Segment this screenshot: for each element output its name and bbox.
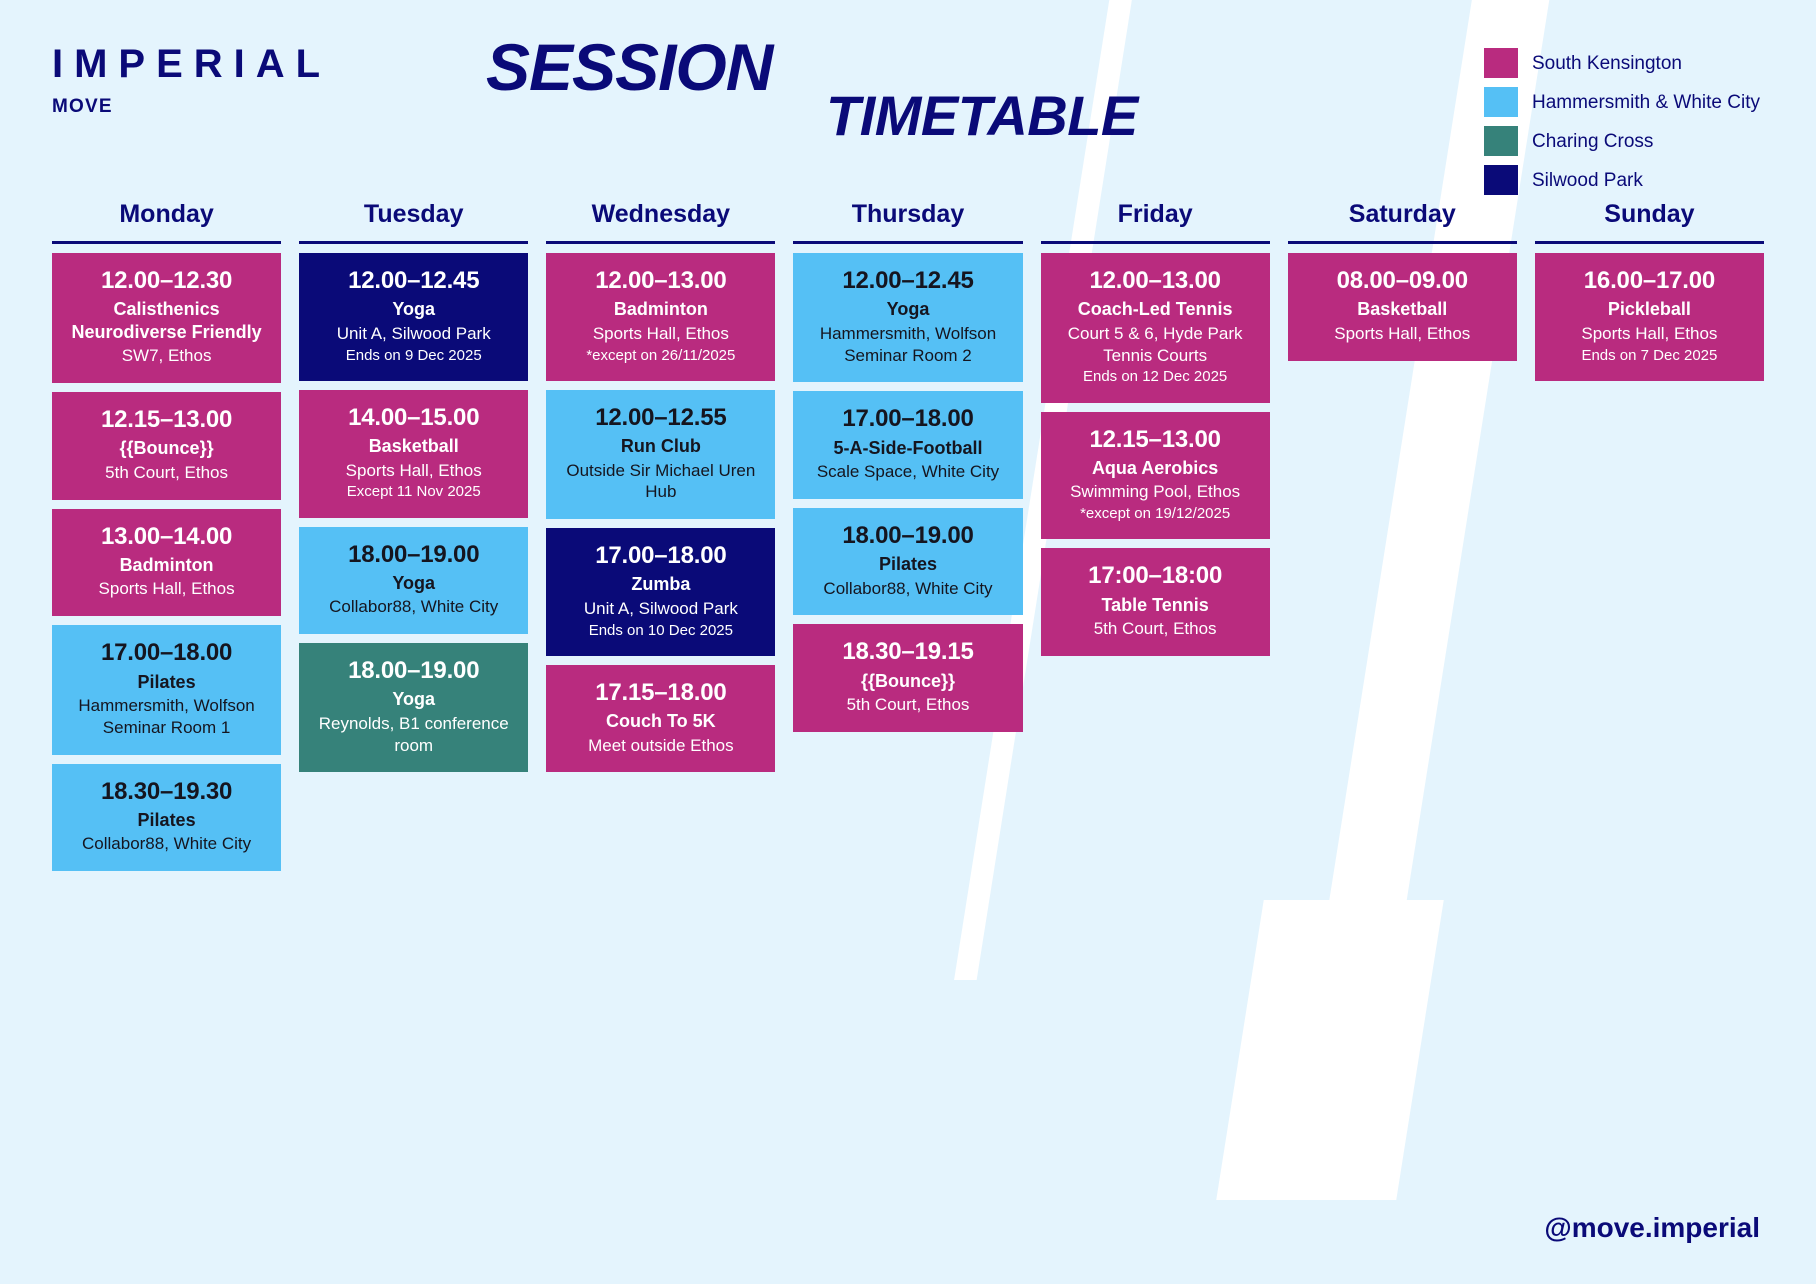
session-card[interactable]: 16.00–17.00PickleballSports Hall, EthosE… [1535, 253, 1764, 381]
session-card[interactable]: 12.15–13.00Aqua AerobicsSwimming Pool, E… [1041, 412, 1270, 540]
session-activity: Pickleball [1545, 298, 1754, 321]
session-time: 17.00–18.00 [556, 542, 765, 570]
session-activity: Aqua Aerobics [1051, 457, 1260, 480]
day-header-divider [793, 241, 1022, 244]
day-header-monday: Monday [52, 200, 281, 241]
session-time: 18.30–19.30 [62, 778, 271, 806]
session-time: 13.00–14.00 [62, 523, 271, 551]
session-card[interactable]: 18.30–19.30PilatesCollabor88, White City [52, 764, 281, 872]
imperial-move-logo: IMPERIAL MOVE [52, 44, 331, 118]
day-sessions: 08.00–09.00BasketballSports Hall, Ethos [1288, 253, 1517, 361]
session-activity: Basketball [1298, 298, 1507, 321]
page-title-line-1: SESSION [486, 34, 772, 100]
session-location: Collabor88, White City [803, 578, 1012, 600]
session-location: Court 5 & 6, Hyde Park Tennis Courts [1051, 323, 1260, 367]
session-time: 18.00–19.00 [309, 657, 518, 685]
session-note: Except 11 Nov 2025 [309, 482, 518, 501]
timetable-grid: Monday12.00–12.30Calisthenics Neurodiver… [52, 200, 1764, 871]
day-header-friday: Friday [1041, 200, 1270, 241]
session-location: Collabor88, White City [309, 596, 518, 618]
session-activity: Badminton [62, 554, 271, 577]
poster-header: IMPERIAL MOVE SESSION TIMETABLE South Ke… [0, 0, 1816, 200]
session-activity: 5-A-Side-Football [803, 437, 1012, 460]
day-header-saturday: Saturday [1288, 200, 1517, 241]
session-time: 18.30–19.15 [803, 638, 1012, 666]
session-activity: Pilates [803, 553, 1012, 576]
legend-item: Silwood Park [1484, 165, 1760, 195]
day-header-divider [52, 241, 281, 244]
session-activity: {{Bounce}} [803, 670, 1012, 693]
day-header-divider [1288, 241, 1517, 244]
session-activity: Yoga [309, 572, 518, 595]
day-header-divider [1535, 241, 1764, 244]
day-header-thursday: Thursday [793, 200, 1022, 241]
legend-label: Charing Cross [1532, 132, 1653, 151]
session-activity: Coach-Led Tennis [1051, 298, 1260, 321]
session-card[interactable]: 18.30–19.15{{Bounce}}5th Court, Ethos [793, 624, 1022, 732]
legend-swatch-icon [1484, 48, 1518, 78]
session-card[interactable]: 08.00–09.00BasketballSports Hall, Ethos [1288, 253, 1517, 361]
day-sessions: 12.00–12.30Calisthenics Neurodiverse Fri… [52, 253, 281, 871]
session-time: 12.00–13.00 [556, 267, 765, 295]
legend-label: Silwood Park [1532, 171, 1643, 190]
day-header-wednesday: Wednesday [546, 200, 775, 241]
session-card[interactable]: 17.15–18.00Couch To 5KMeet outside Ethos [546, 665, 775, 773]
session-note: Ends on 12 Dec 2025 [1051, 367, 1260, 386]
session-location: Swimming Pool, Ethos [1051, 481, 1260, 503]
session-card[interactable]: 17:00–18:00Table Tennis5th Court, Ethos [1041, 548, 1270, 656]
day-column-wednesday: Wednesday12.00–13.00BadmintonSports Hall… [546, 200, 775, 772]
session-note: *except on 26/11/2025 [556, 346, 765, 365]
session-activity: Table Tennis [1051, 594, 1260, 617]
session-activity: Pilates [62, 671, 271, 694]
session-location: Unit A, Silwood Park [556, 598, 765, 620]
day-column-thursday: Thursday12.00–12.45YogaHammersmith, Wolf… [793, 200, 1022, 732]
session-card[interactable]: 12.00–12.45YogaHammersmith, Wolfson Semi… [793, 253, 1022, 382]
session-note: Ends on 9 Dec 2025 [309, 346, 518, 365]
day-header-tuesday: Tuesday [299, 200, 528, 241]
session-time: 18.00–19.00 [309, 541, 518, 569]
day-column-monday: Monday12.00–12.30Calisthenics Neurodiver… [52, 200, 281, 871]
session-time: 17.00–18.00 [803, 405, 1012, 433]
session-location: 5th Court, Ethos [62, 462, 271, 484]
session-card[interactable]: 17.00–18.00ZumbaUnit A, Silwood ParkEnds… [546, 528, 775, 656]
session-note: Ends on 10 Dec 2025 [556, 621, 765, 640]
social-handle: @move.imperial [1544, 1212, 1760, 1244]
session-location: Hammersmith, Wolfson Seminar Room 1 [62, 695, 271, 739]
day-sessions: 16.00–17.00PickleballSports Hall, EthosE… [1535, 253, 1764, 381]
legend-item: South Kensington [1484, 48, 1760, 78]
session-location: Reynolds, B1 conference room [309, 713, 518, 757]
session-location: Meet outside Ethos [556, 735, 765, 757]
legend-label: Hammersmith & White City [1532, 93, 1760, 112]
session-activity: Basketball [309, 435, 518, 458]
day-header-sunday: Sunday [1535, 200, 1764, 241]
session-time: 12.15–13.00 [62, 406, 271, 434]
session-card[interactable]: 12.00–12.45YogaUnit A, Silwood ParkEnds … [299, 253, 528, 381]
session-location: Sports Hall, Ethos [556, 323, 765, 345]
session-activity: Yoga [309, 298, 518, 321]
session-card[interactable]: 18.00–19.00YogaCollabor88, White City [299, 527, 528, 635]
session-note: *except on 19/12/2025 [1051, 504, 1260, 523]
day-sessions: 12.00–13.00Coach-Led TennisCourt 5 & 6, … [1041, 253, 1270, 656]
session-card[interactable]: 17.00–18.005-A-Side-FootballScale Space,… [793, 391, 1022, 499]
session-time: 17.15–18.00 [556, 679, 765, 707]
session-location: SW7, Ethos [62, 345, 271, 367]
session-time: 14.00–15.00 [309, 404, 518, 432]
session-location: Unit A, Silwood Park [309, 323, 518, 345]
session-location: Hammersmith, Wolfson Seminar Room 2 [803, 323, 1012, 367]
day-column-friday: Friday12.00–13.00Coach-Led TennisCourt 5… [1041, 200, 1270, 656]
day-column-tuesday: Tuesday12.00–12.45YogaUnit A, Silwood Pa… [299, 200, 528, 772]
session-time: 12.00–12.45 [803, 267, 1012, 295]
session-card[interactable]: 12.00–12.30Calisthenics Neurodiverse Fri… [52, 253, 281, 383]
logo-subtitle: MOVE [52, 96, 331, 118]
session-time: 16.00–17.00 [1545, 267, 1754, 295]
day-header-divider [1041, 241, 1270, 244]
session-activity: Calisthenics Neurodiverse Friendly [62, 298, 271, 343]
legend-item: Hammersmith & White City [1484, 87, 1760, 117]
campus-legend: South KensingtonHammersmith & White City… [1484, 48, 1760, 195]
session-location: Sports Hall, Ethos [309, 460, 518, 482]
session-card[interactable]: 12.00–13.00BadmintonSports Hall, Ethos*e… [546, 253, 775, 381]
session-activity: Couch To 5K [556, 710, 765, 733]
session-activity: Pilates [62, 809, 271, 832]
session-activity: Run Club [556, 435, 765, 458]
page-title: SESSION TIMETABLE [486, 34, 1186, 154]
day-header-divider [299, 241, 528, 244]
timetable-poster: IMPERIAL MOVE SESSION TIMETABLE South Ke… [0, 0, 1816, 1284]
session-location: Sports Hall, Ethos [1298, 323, 1507, 345]
day-sessions: 12.00–12.45YogaUnit A, Silwood ParkEnds … [299, 253, 528, 772]
day-sessions: 12.00–12.45YogaHammersmith, Wolfson Semi… [793, 253, 1022, 732]
session-note: Ends on 7 Dec 2025 [1545, 346, 1754, 365]
session-time: 12.00–12.45 [309, 267, 518, 295]
day-header-divider [546, 241, 775, 244]
session-activity: Yoga [309, 688, 518, 711]
session-activity: {{Bounce}} [62, 437, 271, 460]
legend-swatch-icon [1484, 87, 1518, 117]
session-time: 08.00–09.00 [1298, 267, 1507, 295]
session-card[interactable]: 18.00–19.00PilatesCollabor88, White City [793, 508, 1022, 616]
session-location: Scale Space, White City [803, 461, 1012, 483]
legend-item: Charing Cross [1484, 126, 1760, 156]
session-card[interactable]: 17.00–18.00PilatesHammersmith, Wolfson S… [52, 625, 281, 754]
session-location: Collabor88, White City [62, 833, 271, 855]
session-time: 12.00–12.30 [62, 267, 271, 295]
day-column-sunday: Sunday16.00–17.00PickleballSports Hall, … [1535, 200, 1764, 381]
session-card[interactable]: 18.00–19.00YogaReynolds, B1 conference r… [299, 643, 528, 772]
day-sessions: 12.00–13.00BadmintonSports Hall, Ethos*e… [546, 253, 775, 772]
page-title-line-2: TIMETABLE [826, 88, 1138, 144]
session-card[interactable]: 12.00–12.55Run ClubOutside Sir Michael U… [546, 390, 775, 519]
logo-wordmark: IMPERIAL [52, 44, 331, 84]
session-location: Sports Hall, Ethos [1545, 323, 1754, 345]
legend-label: South Kensington [1532, 54, 1682, 73]
session-location: Outside Sir Michael Uren Hub [556, 460, 765, 504]
day-column-saturday: Saturday08.00–09.00BasketballSports Hall… [1288, 200, 1517, 361]
session-time: 12.00–12.55 [556, 404, 765, 432]
session-time: 18.00–19.00 [803, 522, 1012, 550]
session-location: 5th Court, Ethos [803, 694, 1012, 716]
session-location: 5th Court, Ethos [1051, 618, 1260, 640]
session-activity: Zumba [556, 573, 765, 596]
session-card[interactable]: 13.00–14.00BadmintonSports Hall, Ethos [52, 509, 281, 617]
session-location: Sports Hall, Ethos [62, 578, 271, 600]
session-activity: Badminton [556, 298, 765, 321]
legend-swatch-icon [1484, 126, 1518, 156]
session-card[interactable]: 12.00–13.00Coach-Led TennisCourt 5 & 6, … [1041, 253, 1270, 403]
session-card[interactable]: 12.15–13.00{{Bounce}}5th Court, Ethos [52, 392, 281, 500]
session-time: 17.00–18.00 [62, 639, 271, 667]
session-time: 12.15–13.00 [1051, 426, 1260, 454]
session-time: 17:00–18:00 [1051, 562, 1260, 590]
legend-swatch-icon [1484, 165, 1518, 195]
session-time: 12.00–13.00 [1051, 267, 1260, 295]
session-activity: Yoga [803, 298, 1012, 321]
session-card[interactable]: 14.00–15.00BasketballSports Hall, EthosE… [299, 390, 528, 518]
